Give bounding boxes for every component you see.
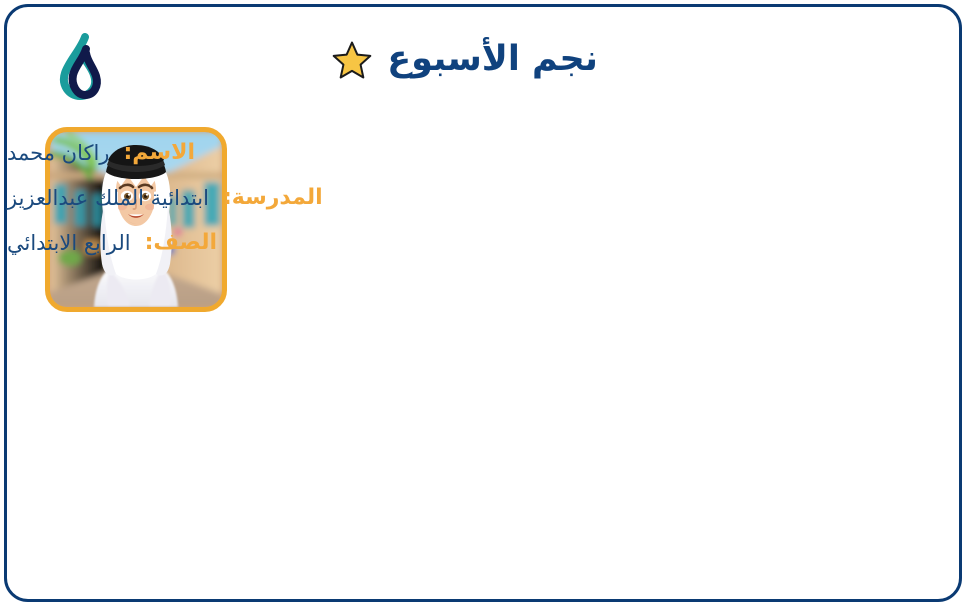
info-row-grade: الصف: الرابع الابتدائي (7, 230, 852, 255)
grade-label: الصف: (145, 230, 217, 255)
card-header: نجم الأسبوع (7, 7, 959, 112)
info-row-name: الاسم: راكان محمد (7, 140, 852, 165)
card-body-blank-area (7, 327, 959, 597)
school-label: المدرسة: (223, 185, 323, 210)
school-value: ابتدائية الملك عبدالعزيز (7, 186, 209, 210)
info-row-school: المدرسة: ابتدائية الملك عبدالعزيز (7, 185, 852, 210)
name-value: راكان محمد (7, 141, 109, 165)
page-title: نجم الأسبوع (7, 39, 972, 79)
student-info-block: الاسم: راكان محمد المدرسة: ابتدائية المل… (7, 140, 852, 255)
star-of-the-week-card: نجم الأسبوع (4, 4, 962, 602)
star-icon (332, 40, 372, 80)
page-title-text: نجم الأسبوع (387, 39, 598, 79)
grade-value: الرابع الابتدائي (7, 231, 131, 255)
name-label: الاسم: (123, 140, 195, 165)
